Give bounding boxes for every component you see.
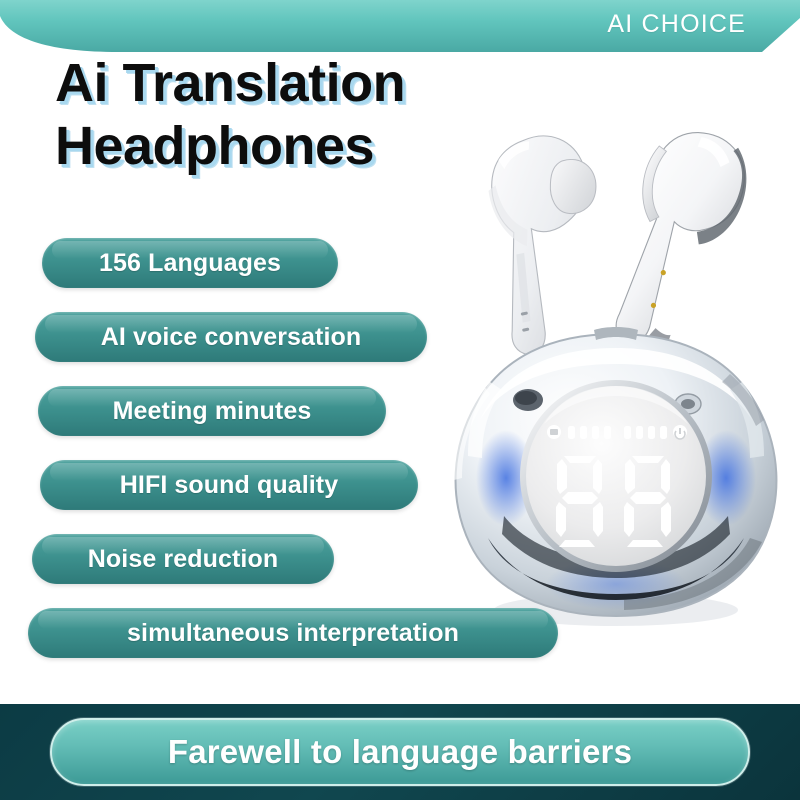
feature-pill-noise-reduction: Noise reduction [32, 534, 334, 584]
feature-list: 156 Languages AI voice conversation Meet… [0, 238, 600, 682]
title-line-1: Ai Translation [55, 54, 405, 112]
right-earbud [613, 124, 754, 358]
footer-banner: Farewell to language barriers [0, 704, 800, 800]
product-poster: AI CHOICE Ai Translation Headphones 156 … [0, 0, 800, 800]
footer-tagline: Farewell to language barriers [50, 718, 750, 786]
feature-pill-meeting-minutes: Meeting minutes [38, 386, 386, 436]
title-line-2: Headphones [55, 117, 405, 175]
feature-pill-interpretation: simultaneous interpretation [28, 608, 558, 658]
brand-label: AI CHOICE [607, 9, 746, 39]
top-banner: AI CHOICE [0, 0, 800, 52]
feature-pill-voice-conversation: AI voice conversation [35, 312, 427, 362]
feature-pill-languages: 156 Languages [42, 238, 338, 288]
feature-pill-sound-quality: HIFI sound quality [40, 460, 418, 510]
page-title: Ai Translation Headphones [55, 54, 405, 175]
